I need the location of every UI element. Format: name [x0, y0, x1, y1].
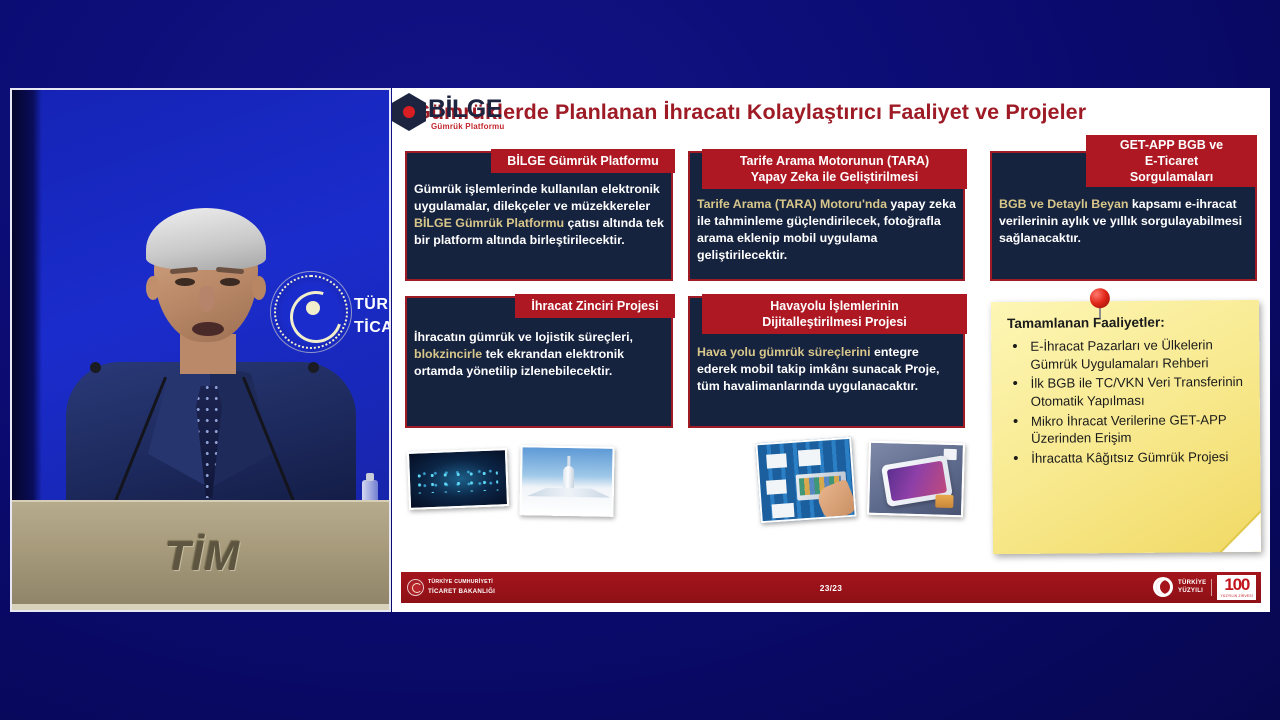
bilge-wordmark: BİLGE [428, 95, 502, 124]
warehouse-box [772, 503, 795, 519]
card-header-line2: E-Ticaret [1145, 153, 1198, 169]
sticky-note-title: Tamamlanan Faaliyetler: [1007, 315, 1165, 331]
card-header-line1: Tarife Arama Motorunun (TARA) [740, 153, 929, 169]
speaker-video-panel: TÜRK TİCA TİM [10, 88, 391, 612]
speaker-eye-left [175, 278, 195, 286]
logo-100-caption: YÜZYILIN ZİRVESİ [1220, 594, 1253, 598]
speaker-ear-left [146, 276, 160, 300]
pushpin-head [1090, 288, 1110, 308]
warehouse-box [766, 479, 787, 494]
card-header: Havayolu İşlemlerinin Dijitalleştirilmes… [702, 294, 967, 334]
speaker-ear-right [252, 276, 266, 300]
slide-footer-bar: TÜRKİYE CUMHURİYETİ TİCARET BAKANLIĞI 23… [400, 571, 1262, 604]
microphone-head-right [308, 362, 319, 373]
card-body-highlight: BGB ve Detaylı Beyan [999, 197, 1128, 211]
footer-divider [1211, 579, 1212, 596]
card-body-highlight: Tarife Arama (TARA) Motoru'nda [697, 197, 887, 211]
blockchain-network-image [407, 448, 509, 510]
crescent-icon [1153, 577, 1173, 597]
warehouse-box [766, 453, 787, 468]
card-header-line2: Dijitalleştirilmesi Projesi [762, 314, 907, 330]
airplane-image [519, 445, 614, 517]
logo-100-yuzyil: 100 YÜZYILIN ZİRVESİ [1217, 575, 1256, 599]
sticky-note-list: E-İhracat Pazarları ve Ülkelerin Gümrük … [1009, 336, 1248, 470]
sticky-note-curled-corner [1219, 510, 1261, 552]
podium-logo-tim: TİM [165, 532, 240, 580]
list-item: Mikro İhracat Verilerine GET-APP Üzerind… [1010, 411, 1248, 448]
ministry-crescent-emblem [274, 275, 348, 349]
podium-base [12, 604, 391, 610]
card-body-highlight: BİLGE Gümrük Platformu [414, 216, 564, 230]
card-header: BİLGE Gümrük Platformu [491, 149, 675, 173]
warehouse-box [798, 449, 821, 466]
card-ihracat-zinciri-projesi: İhracat Zinciri Projesi İhracatın gümrük… [405, 296, 673, 428]
card-body-highlight: Hava yolu gümrük süreçlerini [697, 345, 871, 359]
slide-title: Gümrüklerde Planlanan İhracatı Kolaylaşt… [414, 100, 1086, 125]
slide-page-number: 23/23 [401, 583, 1261, 593]
airplane-wings [527, 487, 611, 497]
list-item: İhracatta Kâğıtsız Gümrük Projesi [1010, 448, 1248, 468]
card-header: GET-APP BGB ve E-Ticaret Sorgulamaları [1086, 135, 1257, 187]
speaker-nose [199, 286, 215, 312]
card-body: İhracatın gümrük ve lojistik süreçleri, … [414, 329, 666, 380]
card-tara-yapay-zeka: Tarife Arama Motorunun (TARA) Yapay Zeka… [688, 151, 965, 281]
card-header: Tarife Arama Motorunun (TARA) Yapay Zeka… [702, 149, 967, 189]
card-header-line2: Yapay Zeka ile Geliştirilmesi [751, 169, 918, 185]
list-item: İlk BGB ile TC/VKN Veri Transferinin Oto… [1010, 373, 1248, 410]
backdrop-brand-text: TÜRK TİCA [354, 294, 391, 339]
card-header-line1: GET-APP BGB ve [1120, 137, 1223, 153]
podium: TİM [12, 500, 391, 610]
card-body: Gümrük işlemlerinde kullanılan elektroni… [414, 181, 666, 248]
warehouse-tablet-image [755, 437, 856, 524]
mobile-delivery-image [867, 441, 965, 518]
turkiye-yuzyili-line1: TÜRKİYE [1178, 579, 1206, 587]
turkiye-yuzyili-line2: YÜZYILI [1178, 587, 1206, 595]
speaker-mouth [192, 322, 224, 336]
card-header-line3: Sorgulamaları [1130, 169, 1213, 185]
card-header: İhracat Zinciri Projesi [515, 294, 675, 318]
presentation-slide: Gümrüklerde Planlanan İhracatı Kolaylaşt… [392, 88, 1270, 612]
card-body-highlight: blokzincirle [414, 347, 482, 361]
card-getapp-bgb-eticaret: GET-APP BGB ve E-Ticaret Sorgulamaları B… [990, 151, 1257, 281]
bilge-hexagon-icon [392, 93, 426, 131]
card-bilge-gumruk-platformu: BİLGE Gümrük Platformu Gümrük işlemlerin… [405, 151, 673, 281]
card-body: Tarife Arama (TARA) Motoru'nda yapay zek… [697, 196, 959, 263]
turkiye-yuzyili-text: TÜRKİYE YÜZYILI [1178, 579, 1206, 595]
card-body-pre: İhracatın gümrük ve lojistik süreçleri, [414, 330, 633, 344]
card-header-line1: Havayolu İşlemlerinin [770, 298, 899, 314]
parcel-box [935, 495, 953, 508]
bilge-logo: BİLGE Gümrük Platformu [392, 88, 512, 144]
card-body-pre: Gümrük işlemlerinde kullanılan elektroni… [414, 182, 660, 213]
presentation-stage: TÜRK TİCA TİM Gümrüklerde Planlanan İhra… [0, 0, 1280, 720]
card-body: BGB ve Detaylı Beyan kapsamı e-ihracat v… [999, 196, 1251, 247]
backdrop-brand-line2: TİCA [354, 317, 391, 340]
pushpin-icon [1089, 288, 1111, 318]
speaker-eye-right [220, 278, 240, 286]
backdrop-brand-line1: TÜRK [354, 294, 391, 317]
logo-100-number: 100 [1224, 577, 1249, 593]
sticky-note-completed-activities: Tamamlanan Faaliyetler: E-İhracat Pazarl… [991, 300, 1261, 554]
card-havayolu-dijitallestirme: Havayolu İşlemlerinin Dijitalleştirilmes… [688, 296, 965, 428]
list-item: E-İhracat Pazarları ve Ülkelerin Gümrük … [1009, 336, 1247, 373]
microphone-head-left [90, 362, 101, 373]
footer-brand-logos: TÜRKİYE YÜZYILI 100 YÜZYILIN ZİRVESİ [1153, 575, 1256, 599]
card-body: Hava yolu gümrük süreçlerini entegre ede… [697, 344, 959, 395]
bilge-tagline: Gümrük Platformu [431, 122, 504, 131]
